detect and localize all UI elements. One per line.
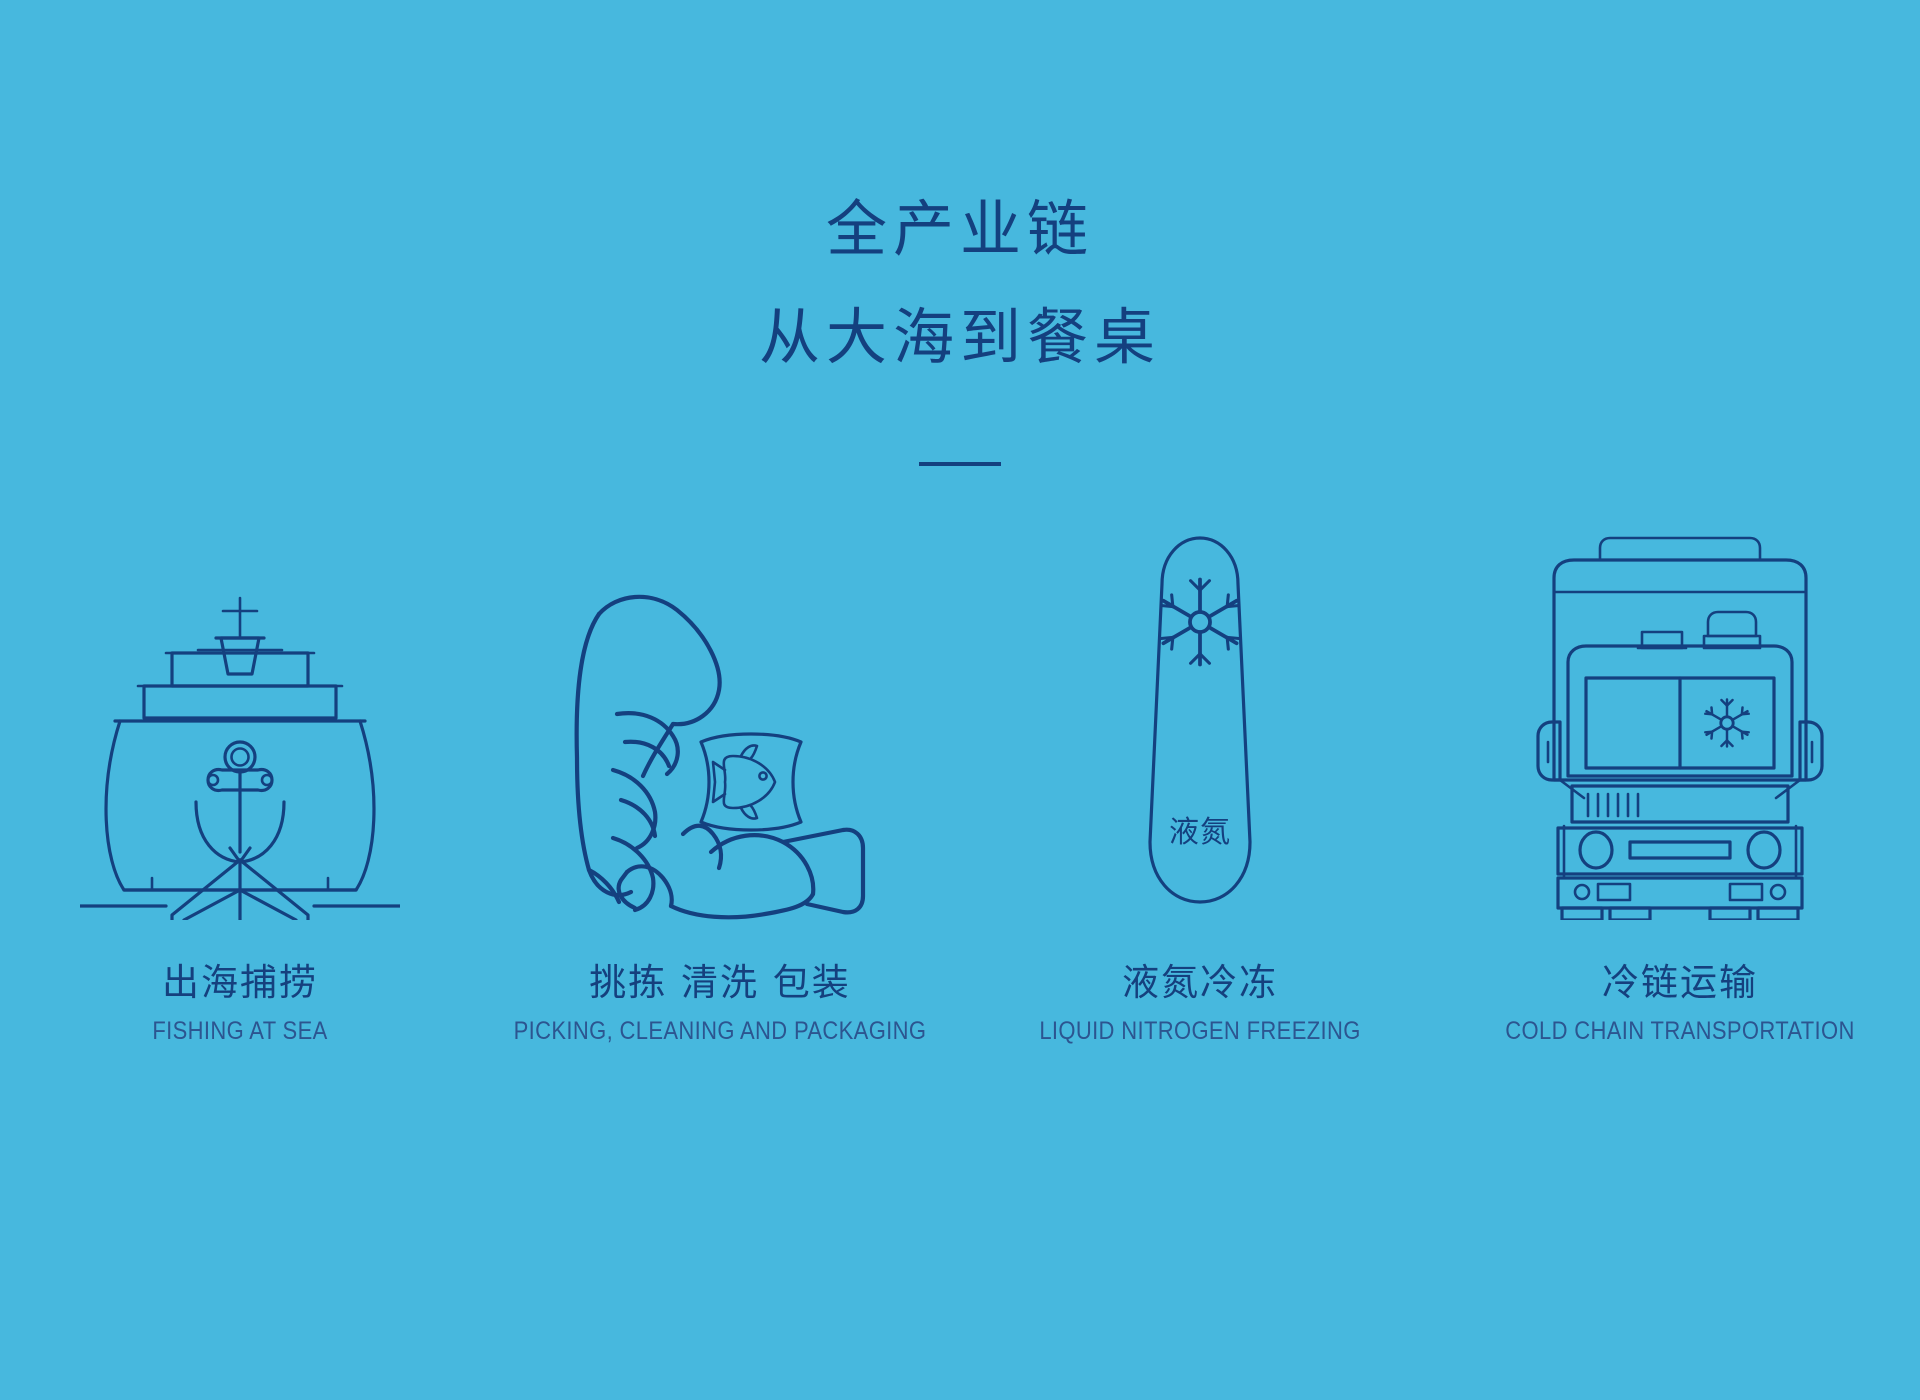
step-picking-cleaning-packaging[interactable]: 挑拣 清洗 包装 PICKING, CLEANING AND PACKAGING: [480, 520, 960, 1046]
step-1-labels: 出海捕捞 FISHING AT SEA: [0, 960, 480, 1046]
page-title: 全产业链 从大海到餐桌: [0, 176, 1920, 392]
step-2-icon-box: [555, 520, 885, 920]
step-3-labels: 液氮冷冻 LIQUID NITROGEN FREEZING: [960, 960, 1440, 1046]
step-1-label-en: FISHING AT SEA: [29, 1016, 451, 1046]
title-divider: [919, 462, 1001, 466]
step-2-label-en: PICKING, CLEANING AND PACKAGING: [509, 1016, 931, 1046]
step-3-label-cn: 液氮冷冻: [960, 960, 1440, 1006]
hands-with-packaged-fish-icon: [555, 580, 885, 920]
dewar-label: 液氮: [1169, 815, 1231, 850]
title-divider-wrap: [0, 455, 1920, 473]
title-line-2: 从大海到餐桌: [0, 284, 1920, 392]
step-4-labels: 冷链运输 COLD CHAIN TRANSPORTATION: [1440, 960, 1920, 1046]
title-line-1: 全产业链: [0, 176, 1920, 284]
step-liquid-nitrogen-freezing[interactable]: 液氮 液氮冷冻 LIQUID NITROGEN FREEZING: [960, 520, 1440, 1046]
packaged-fish-icon: [701, 734, 801, 830]
step-2-labels: 挑拣 清洗 包装 PICKING, CLEANING AND PACKAGING: [480, 960, 960, 1046]
liquid-nitrogen-dewar-icon: 液氮: [1110, 530, 1290, 920]
full-supply-chain-infographic: 全产业链 从大海到餐桌: [0, 0, 1920, 1400]
fishing-boat-icon: [80, 590, 400, 920]
step-2-label-cn: 挑拣 清洗 包装: [480, 960, 960, 1006]
step-1-icon-box: [80, 520, 400, 920]
step-3-icon-box: 液氮: [1110, 520, 1290, 920]
step-1-label-cn: 出海捕捞: [0, 960, 480, 1006]
step-cold-chain-transportation[interactable]: 冷链运输 COLD CHAIN TRANSPORTATION: [1440, 520, 1920, 1046]
step-3-label-en: LIQUID NITROGEN FREEZING: [989, 1016, 1411, 1046]
refrigerated-truck-icon: [1530, 530, 1830, 920]
snowflake-icon: [1705, 699, 1748, 746]
step-4-label-cn: 冷链运输: [1440, 960, 1920, 1006]
process-steps: 出海捕捞 FISHING AT SEA: [0, 520, 1920, 1046]
step-4-icon-box: [1530, 520, 1830, 920]
step-4-label-en: COLD CHAIN TRANSPORTATION: [1469, 1016, 1891, 1046]
snowflake-icon: [1161, 580, 1239, 665]
step-fishing-at-sea[interactable]: 出海捕捞 FISHING AT SEA: [0, 520, 480, 1046]
